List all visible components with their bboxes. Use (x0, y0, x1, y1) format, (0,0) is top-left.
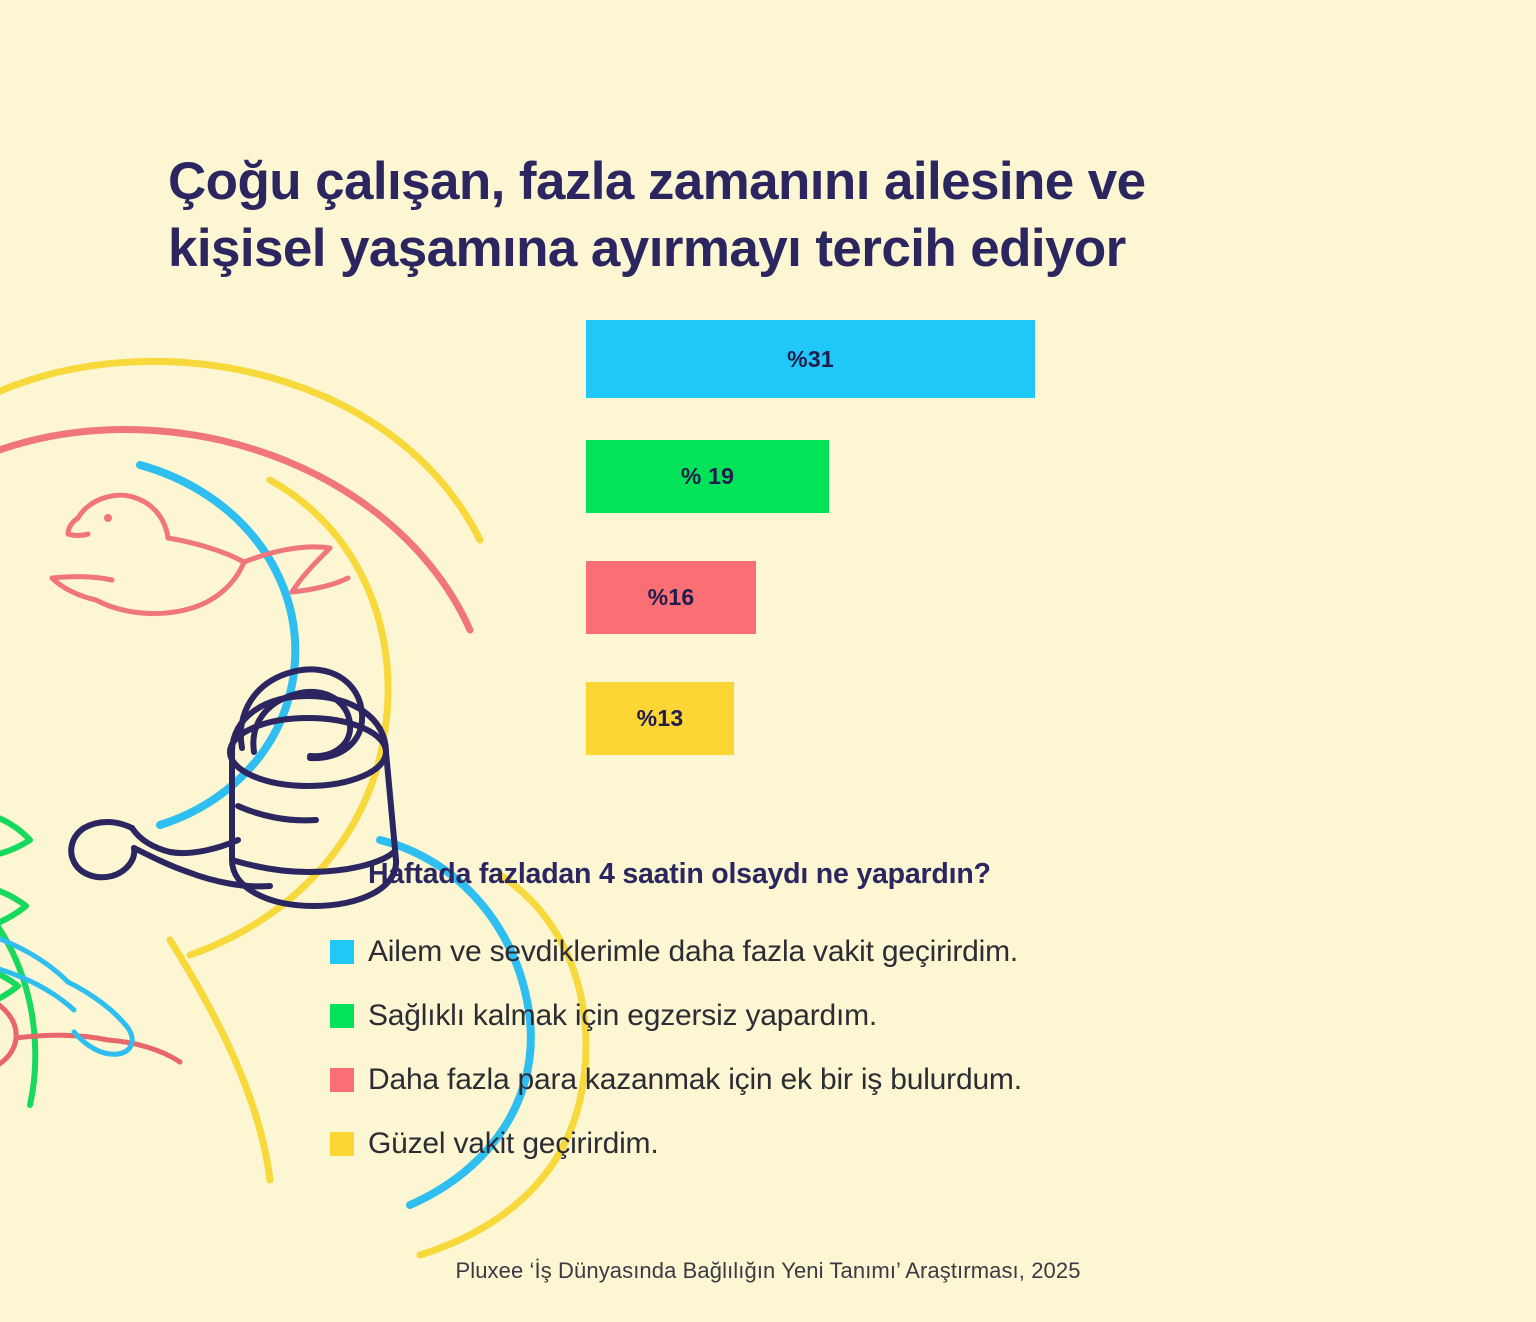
legend-label-4: Güzel vakit geçirirdim. (368, 1127, 658, 1161)
garden-trowel-icon (0, 979, 180, 1079)
legend-item-2: Sağlıklı kalmak için egzersiz yapardım. (330, 984, 1280, 1048)
legend-item-3: Daha fazla para kazanmak için ek bir iş … (330, 1048, 1280, 1112)
bar-row-3: %16 (586, 561, 1035, 634)
plant-leaves-icon (0, 670, 35, 1105)
bar-row-4: %13 (586, 682, 1035, 755)
swirl-yellow-1 (0, 361, 480, 540)
chart-legend: Ailem ve sevdiklerimle daha fazla vakit … (330, 920, 1280, 1176)
watering-can-icon (71, 669, 396, 906)
bar-row-1: %31 (586, 320, 1035, 398)
bar-green: % 19 (586, 440, 829, 513)
bar-value-label-1: %31 (787, 346, 834, 373)
legend-swatch-green (330, 1004, 354, 1028)
bar-value-label-2: % 19 (681, 463, 734, 490)
legend-item-1: Ailem ve sevdiklerimle daha fazla vakit … (330, 920, 1280, 984)
legend-label-1: Ailem ve sevdiklerimle daha fazla vakit … (368, 935, 1018, 969)
legend-swatch-red (330, 1068, 354, 1092)
infographic-canvas: Çoğu çalışan, fazla zamanını ailesine ve… (0, 0, 1536, 1322)
legend-swatch-blue (330, 940, 354, 964)
swirl-red-1 (0, 430, 470, 630)
bar-row-2: % 19 (586, 440, 1035, 513)
swirl-yellow-4 (170, 940, 270, 1180)
swirl-yellow-2 (190, 480, 388, 955)
page-title: Çoğu çalışan, fazla zamanını ailesine ve… (168, 148, 1368, 284)
bar-yellow: %13 (586, 682, 734, 755)
legend-heading: Haftada fazladan 4 saatin olsaydı ne yap… (368, 858, 991, 891)
legend-swatch-yellow (330, 1132, 354, 1156)
bar-chart: %31 % 19 %16 %13 (586, 320, 1035, 755)
page-title-line-2: kişisel yaşamına ayırmayı tercih ediyor (168, 215, 1368, 283)
page-title-line-1: Çoğu çalışan, fazla zamanını ailesine ve (168, 148, 1368, 216)
swirl-blue-1 (140, 465, 295, 825)
garden-fork-icon (0, 926, 132, 1054)
bird-icon (52, 495, 348, 613)
bar-red: %16 (586, 561, 756, 634)
legend-item-4: Güzel vakit geçirirdim. (330, 1112, 1280, 1176)
bar-value-label-4: %13 (637, 705, 684, 732)
bar-value-label-3: %16 (648, 584, 695, 611)
bar-blue: %31 (586, 320, 1035, 398)
legend-label-2: Sağlıklı kalmak için egzersiz yapardım. (368, 999, 877, 1033)
source-footnote: Pluxee ‘İş Dünyasında Bağlılığın Yeni Ta… (0, 1258, 1536, 1284)
legend-label-3: Daha fazla para kazanmak için ek bir iş … (368, 1063, 1022, 1097)
